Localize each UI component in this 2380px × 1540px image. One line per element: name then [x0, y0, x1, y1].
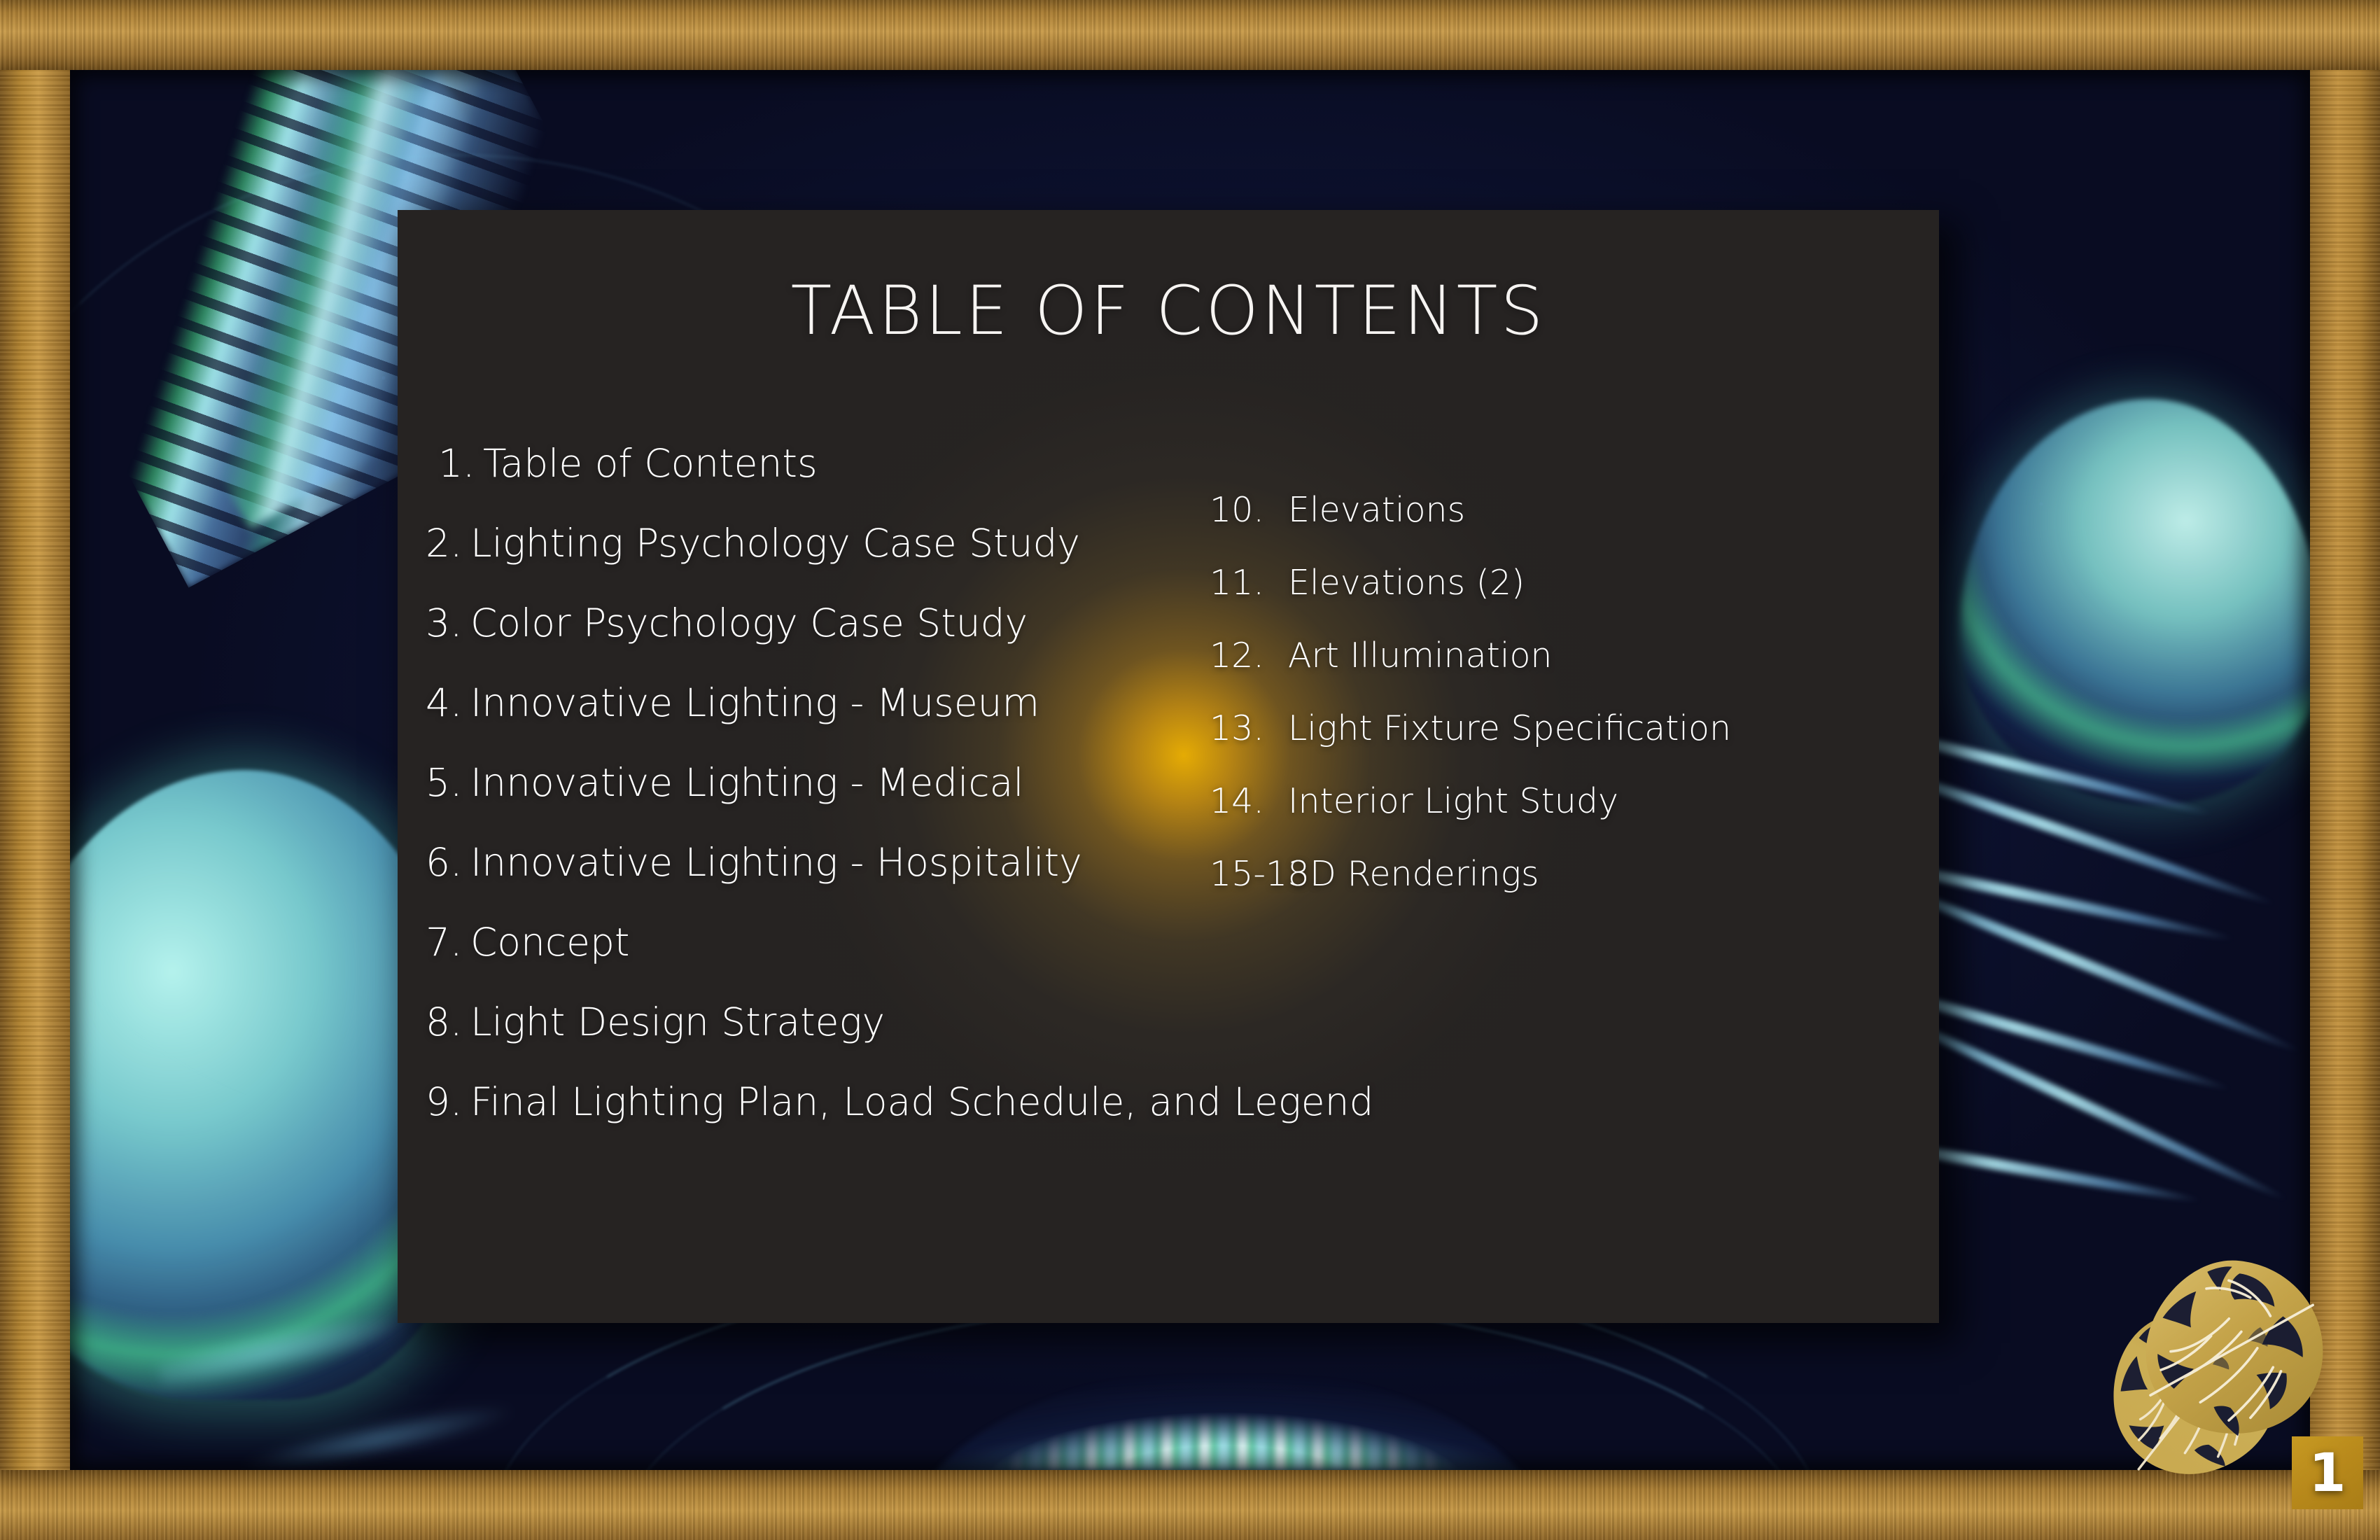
toc-item-label: Elevations — [1288, 490, 1465, 530]
list-item[interactable]: 1. Table of Contents — [426, 441, 1266, 486]
toc-item-number: 11. — [1210, 563, 1288, 603]
toc-right-column: 10. Elevations 11. Elevations (2) 12. Ar… — [1210, 490, 1896, 927]
toc-item-number: 1. — [438, 441, 483, 486]
toc-item-label: Color Psychology Case Study — [470, 601, 1028, 645]
toc-item-label: Innovative Lighting - Museum — [470, 680, 1039, 725]
toc-item-number: 4. — [426, 680, 470, 725]
list-item[interactable]: 7. Concept — [426, 920, 1266, 965]
toc-item-number: 6. — [426, 840, 470, 885]
toc-item-label: 3D Renderings — [1288, 854, 1539, 894]
toc-item-label: Innovative Lighting - Medical — [470, 760, 1024, 805]
toc-item-label: Elevations (2) — [1288, 563, 1525, 603]
toc-item-label: Table of Contents — [483, 441, 818, 486]
toc-item-label: Final Lighting Plan, Load Schedule, and … — [470, 1079, 1373, 1124]
presentation-slide: TABLE OF CONTENTS 1. Table of Contents 2… — [0, 0, 2380, 1540]
jellyfish-right-bell-rim — [1960, 399, 2310, 805]
toc-item-number: 13. — [1210, 708, 1288, 748]
toc-item-number: 2. — [426, 521, 470, 566]
list-item[interactable]: 14. Interior Light Study — [1210, 781, 1896, 821]
toc-item-label: Concept — [470, 920, 629, 965]
toc-item-number: 14. — [1210, 781, 1288, 821]
jellyfish-bottom-bell — [896, 1368, 1554, 1470]
toc-item-number: 3. — [426, 601, 470, 645]
toc-item-label: Art Illumination — [1288, 636, 1552, 675]
list-item[interactable]: 6. Innovative Lighting - Hospitality — [426, 840, 1266, 885]
list-item[interactable]: 13. Light Fixture Specification — [1210, 708, 1896, 748]
list-item[interactable]: 2. Lighting Psychology Case Study — [426, 521, 1266, 566]
list-item[interactable]: 4. Innovative Lighting - Museum — [426, 680, 1266, 725]
list-item[interactable]: 8. Light Design Strategy — [426, 1000, 1266, 1044]
toc-item-number: 7. — [426, 920, 470, 965]
list-item[interactable]: 15-18. 3D Renderings — [1210, 854, 1896, 894]
toc-item-label: Light Design Strategy — [470, 1000, 885, 1044]
page-number: 1 — [2309, 1446, 2346, 1499]
toc-item-label: Light Fixture Specification — [1288, 708, 1731, 748]
jellyfish-right-bell — [1960, 399, 2310, 805]
toc-left-column: 1. Table of Contents 2. Lighting Psychol… — [426, 441, 1266, 1159]
frame-bottom-rail — [0, 1470, 2380, 1540]
frame-left-stile — [0, 70, 70, 1470]
page-title: TABLE OF CONTENTS — [398, 272, 1939, 350]
toc-item-number: 15-18. — [1210, 854, 1288, 894]
content-panel: TABLE OF CONTENTS 1. Table of Contents 2… — [398, 210, 1939, 1323]
toc-item-number: 10. — [1210, 490, 1288, 530]
list-item[interactable]: 11. Elevations (2) — [1210, 563, 1896, 603]
panel-content: TABLE OF CONTENTS 1. Table of Contents 2… — [398, 210, 1939, 1323]
list-item[interactable]: 3. Color Psychology Case Study — [426, 601, 1266, 645]
page-number-badge: 1 — [2292, 1436, 2363, 1509]
jellyfish-bottom-bell-rim — [896, 1358, 1554, 1470]
toc-item-number: 5. — [426, 760, 470, 805]
toc-item-label: Lighting Psychology Case Study — [470, 521, 1080, 566]
toc-item-number: 12. — [1210, 636, 1288, 675]
toc-item-number: 8. — [426, 1000, 470, 1044]
list-item[interactable]: 5. Innovative Lighting - Medical — [426, 760, 1266, 805]
list-item[interactable]: 12. Art Illumination — [1210, 636, 1896, 675]
tentacle-wisp — [616, 1302, 1810, 1470]
toc-item-label: Interior Light Study — [1288, 781, 1618, 821]
frame-top-rail — [0, 0, 2380, 70]
list-item[interactable]: 9. Final Lighting Plan, Load Schedule, a… — [426, 1079, 1266, 1124]
list-item[interactable]: 10. Elevations — [1210, 490, 1896, 530]
toc-item-label: Innovative Lighting - Hospitality — [470, 840, 1082, 885]
toc-item-number: 9. — [426, 1079, 470, 1124]
